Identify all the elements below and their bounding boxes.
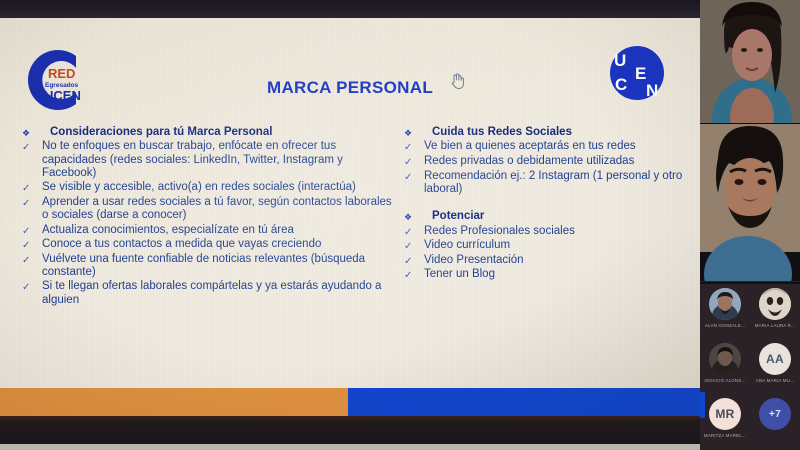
monitor-bezel-top xyxy=(0,0,700,18)
list-item-text: Recomendación ej.: 2 Instagram (1 person… xyxy=(424,170,690,197)
list-item: ✓ Vuélvete una fuente confiable de notic… xyxy=(22,253,400,280)
avatar xyxy=(709,343,741,375)
list-item-text: Ve bien a quienes aceptarás en tus redes xyxy=(424,140,690,153)
left-heading-text: Consideraciones para tú Marca Personal xyxy=(42,126,400,139)
avatar xyxy=(709,288,741,320)
list-item: ✓ Redes privadas o debidamente utilizada… xyxy=(404,155,690,169)
list-item: ✓ Conoce a tus contactos a medida que va… xyxy=(22,238,400,252)
participant-grid: ALAN GONZALE... MARIA LAURA R... xyxy=(700,284,800,450)
svg-text:U: U xyxy=(614,51,626,70)
diamond-bullet-icon: ❖ xyxy=(404,126,424,138)
presentation-slide: RED Egresados UCEN U C E N MARCA PERSONA… xyxy=(0,18,700,416)
check-bullet-icon: ✓ xyxy=(22,253,42,267)
check-bullet-icon: ✓ xyxy=(404,170,424,184)
avatar xyxy=(759,288,791,320)
participants-panel[interactable]: ALAN GONZALE... MARIA LAURA R... xyxy=(700,0,800,450)
list-item-text: Redes Profesionales sociales xyxy=(424,225,690,238)
list-item: ✓ Se visible y accesible, activo(a) en r… xyxy=(22,181,400,195)
participant-tile[interactable]: MARIA LAURA R... xyxy=(750,284,800,339)
check-bullet-icon: ✓ xyxy=(22,280,42,294)
list-item: ✓ Aprender a usar redes sociales a tú fa… xyxy=(22,196,400,223)
participant-tile[interactable]: ALAN GONZALE... xyxy=(700,284,750,339)
participant-photo xyxy=(709,288,741,320)
list-item: ✓ No te enfoques en buscar trabajo, enfó… xyxy=(22,140,400,180)
list-item: ✓ Tener un Blog xyxy=(404,268,690,282)
check-bullet-icon: ✓ xyxy=(22,140,42,154)
screen-photo: RED Egresados UCEN U C E N MARCA PERSONA… xyxy=(0,0,800,450)
speaker-tile-2[interactable] xyxy=(700,124,800,281)
slide-left-column: ❖ Consideraciones para tú Marca Personal… xyxy=(22,126,400,309)
participant-name: ALAN GONZALE... xyxy=(705,323,745,328)
participant-name: MARITZA MAREL... xyxy=(704,433,746,438)
slide-title: MARCA PERSONAL xyxy=(0,78,700,98)
avatar-initials-text: AA xyxy=(766,352,784,366)
list-item: ✓ Recomendación ej.: 2 Instagram (1 pers… xyxy=(404,170,690,197)
list-item-text: Redes privadas o debidamente utilizadas xyxy=(424,155,690,168)
list-item-text: Video currículum xyxy=(424,239,690,252)
list-item-text: Si te llegan ofertas laborales compártel… xyxy=(42,280,400,307)
check-bullet-icon: ✓ xyxy=(404,239,424,253)
right-heading-text-2: Potenciar xyxy=(424,210,690,223)
avatar-overflow-count: +7 xyxy=(759,398,791,430)
right-heading-row-1: ❖ Cuida tus Redes Sociales xyxy=(404,126,690,139)
check-bullet-icon: ✓ xyxy=(22,181,42,195)
check-bullet-icon: ✓ xyxy=(404,268,424,282)
list-item: ✓ Redes Profesionales sociales xyxy=(404,225,690,239)
list-item: ✓ Si te llegan ofertas laborales compárt… xyxy=(22,280,400,307)
speaker-video-feed-2 xyxy=(700,124,800,281)
participant-name: IGNACIO ALONS... xyxy=(704,378,745,383)
list-item-text: No te enfoques en buscar trabajo, enfóca… xyxy=(42,140,400,180)
monitor-bezel-bottom xyxy=(0,416,700,444)
participant-tile[interactable]: MR MARITZA MAREL... xyxy=(700,394,750,449)
list-item: ✓ Video currículum xyxy=(404,239,690,253)
panel-blue-accent xyxy=(700,392,705,418)
speaker-video-feed-1 xyxy=(700,0,800,123)
list-item-text: Conoce a tus contactos a medida que vaya… xyxy=(42,238,400,251)
bullet-group: ❖ Consideraciones para tú Marca Personal… xyxy=(22,126,400,307)
overflow-count-text: +7 xyxy=(769,409,781,420)
mouse-pointer-hand-icon xyxy=(449,72,465,90)
check-bullet-icon: ✓ xyxy=(404,140,424,154)
diamond-bullet-icon: ❖ xyxy=(404,210,424,222)
list-item-text: Aprender a usar redes sociales a tú favo… xyxy=(42,196,400,223)
avatar-initials: MR xyxy=(709,398,741,430)
right-heading-text-1: Cuida tus Redes Sociales xyxy=(424,126,690,139)
avatar-initials: AA xyxy=(759,343,791,375)
bullet-group: ❖ Potenciar ✓ Redes Profesionales social… xyxy=(404,210,690,282)
avatar-initials-text: MR xyxy=(715,407,734,421)
list-item: ✓ Video Presentación xyxy=(404,254,690,268)
check-bullet-icon: ✓ xyxy=(404,254,424,268)
check-bullet-icon: ✓ xyxy=(404,155,424,169)
participant-name: ANA MARIA MU... xyxy=(756,378,794,383)
list-item-text: Vuélvete una fuente confiable de noticia… xyxy=(42,253,400,280)
list-item-text: Tener un Blog xyxy=(424,268,690,281)
check-bullet-icon: ✓ xyxy=(22,238,42,252)
monitor-stand-edge xyxy=(0,444,700,450)
speaker-tile-1[interactable] xyxy=(700,0,800,123)
check-bullet-icon: ✓ xyxy=(22,224,42,238)
participant-photo xyxy=(759,288,791,320)
left-heading-row: ❖ Consideraciones para tú Marca Personal xyxy=(22,126,400,139)
participant-tile[interactable]: IGNACIO ALONS... xyxy=(700,339,750,394)
more-participants-tile[interactable]: +7 xyxy=(750,394,800,449)
participant-photo xyxy=(709,343,741,375)
check-bullet-icon: ✓ xyxy=(404,225,424,239)
list-item: ✓ Actualiza conocimientos, especialízate… xyxy=(22,224,400,238)
list-item-text: Video Presentación xyxy=(424,254,690,267)
list-item: ✓ Ve bien a quienes aceptarás en tus red… xyxy=(404,140,690,154)
list-item-text: Actualiza conocimientos, especialízate e… xyxy=(42,224,400,237)
slide-accent-bar-blue xyxy=(348,388,700,416)
bullet-group: ❖ Cuida tus Redes Sociales ✓ Ve bien a q… xyxy=(404,126,690,196)
list-item-text: Se visible y accesible, activo(a) en red… xyxy=(42,181,400,194)
diamond-bullet-icon: ❖ xyxy=(22,126,42,138)
right-heading-row-2: ❖ Potenciar xyxy=(404,210,690,223)
slide-right-column: ❖ Cuida tus Redes Sociales ✓ Ve bien a q… xyxy=(404,126,690,284)
check-bullet-icon: ✓ xyxy=(22,196,42,210)
participant-tile[interactable]: AA ANA MARIA MU... xyxy=(750,339,800,394)
slide-accent-bar-orange xyxy=(0,388,348,416)
participant-name: MARIA LAURA R... xyxy=(755,323,796,328)
